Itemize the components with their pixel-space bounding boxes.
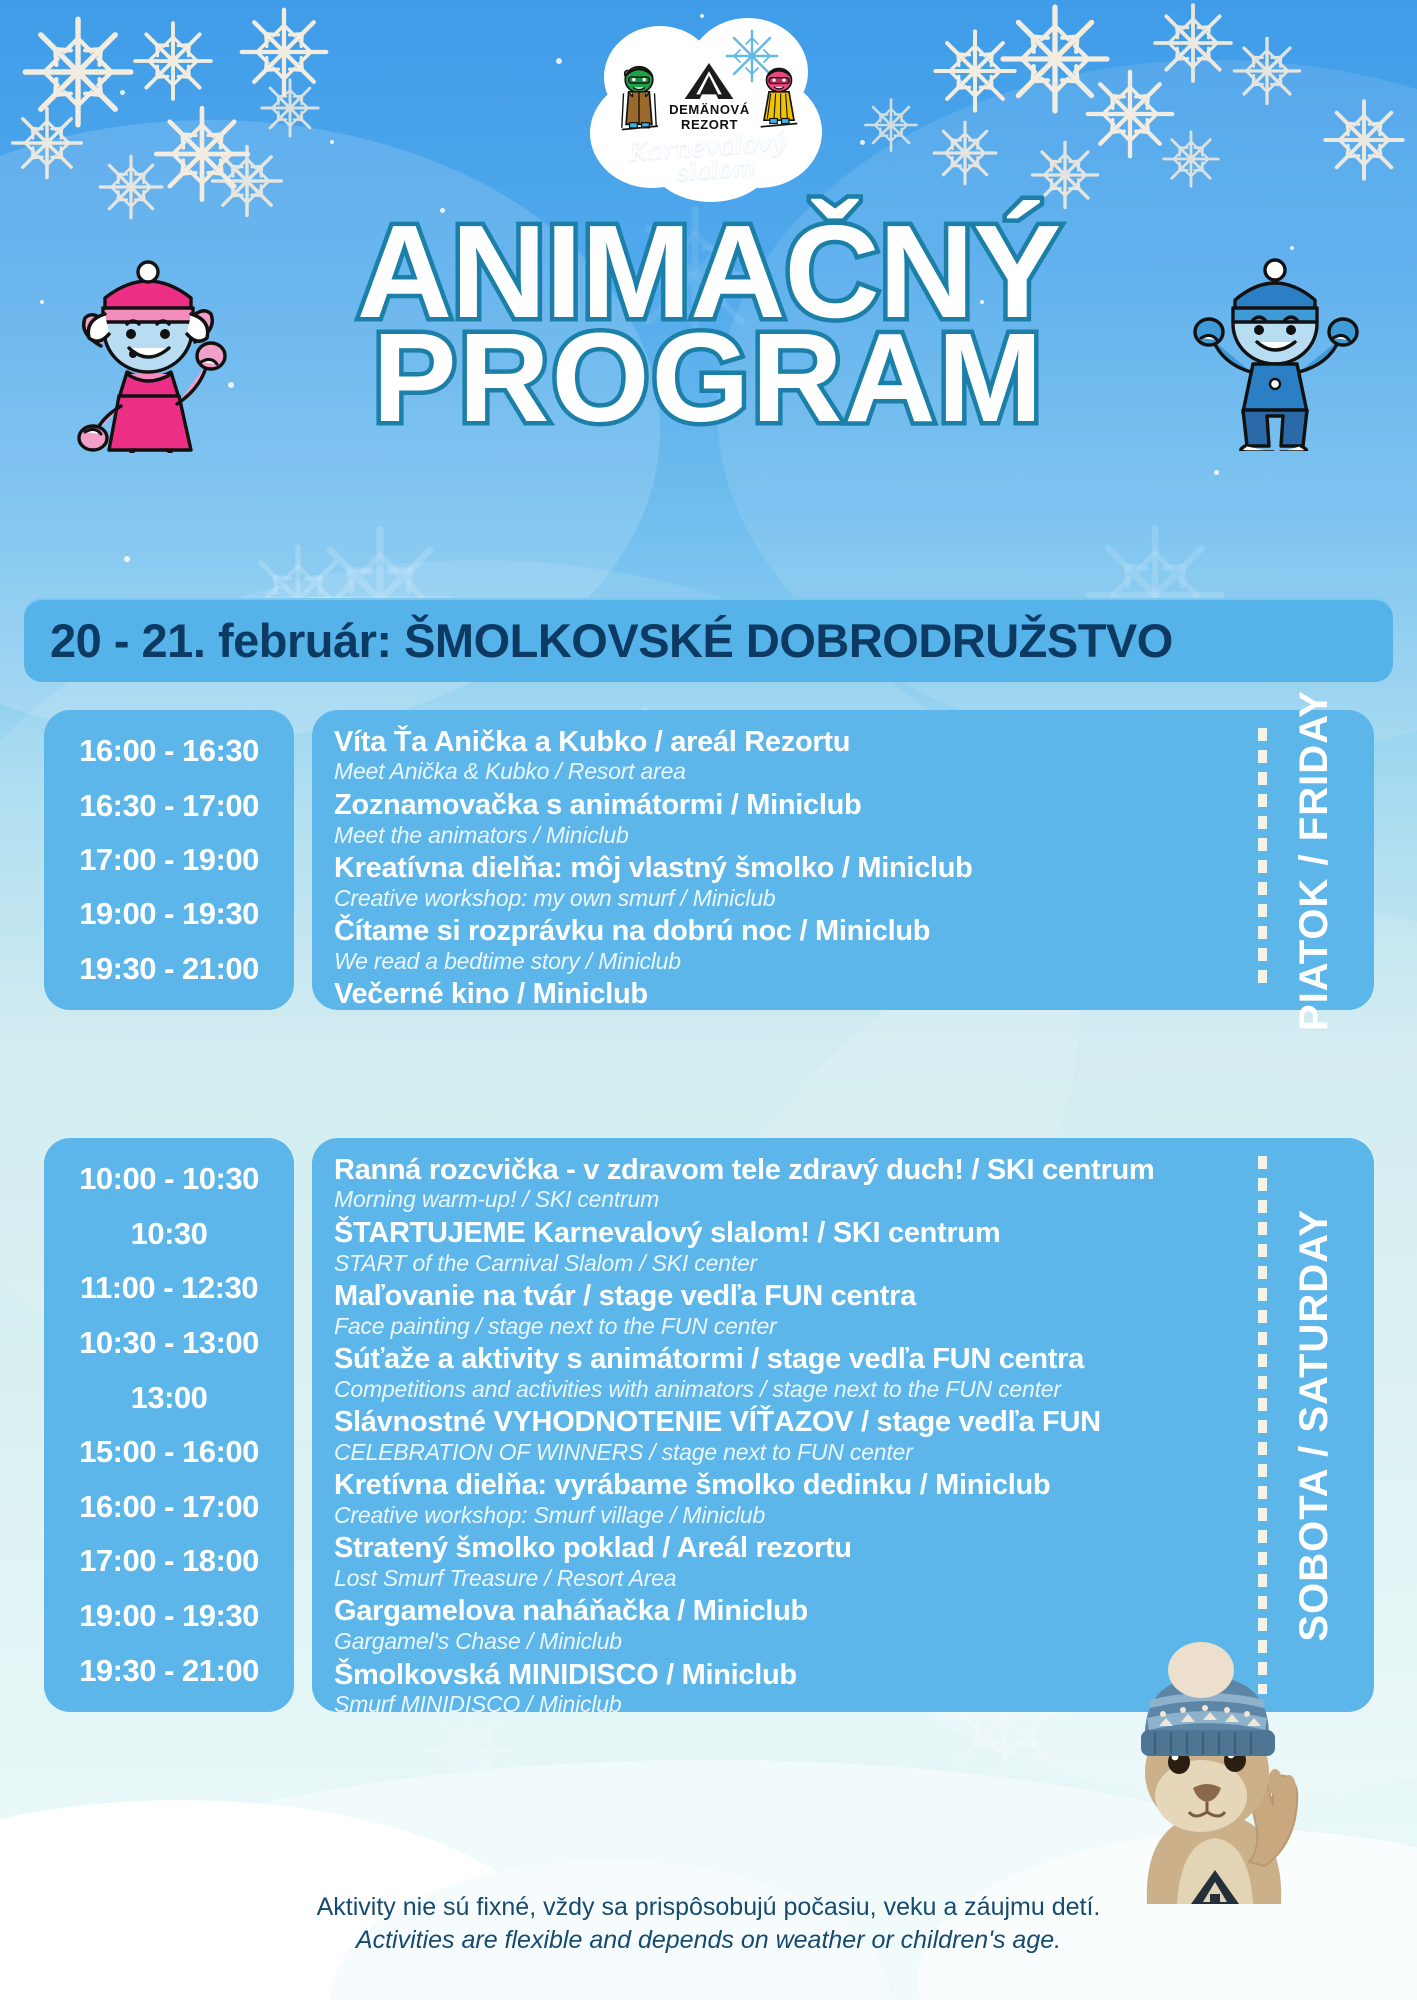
event-subtitle: Karnevalový slalom: [629, 129, 789, 186]
footer-line-sk: Aktivity nie sú fixné, vždy sa prispôsob…: [0, 1891, 1417, 1924]
time-label: 19:00 - 19:30: [79, 1598, 259, 1634]
event-row: Večerné kino / MiniclubEvening cinema / …: [334, 978, 1374, 1010]
time-label: 16:30 - 17:00: [79, 788, 259, 824]
event-row: ŠTARTUJEME Karnevalový slalom! / SKI cen…: [334, 1217, 1374, 1277]
time-label: 17:00 - 18:00: [79, 1543, 259, 1579]
event-row: Ranná rozcvička - v zdravom tele zdravý …: [334, 1154, 1374, 1214]
event-title-sk: Súťaže a aktivity s animátormi / stage v…: [334, 1343, 1374, 1375]
time-label: 10:30: [131, 1216, 208, 1252]
snowflake-icon: [96, 152, 166, 222]
snowflake-icon: [1320, 96, 1408, 184]
logo-badge: DEMÄNOVÁ REZORT: [584, 18, 834, 218]
snow-dot: [330, 140, 334, 144]
event-title-sk: ŠTARTUJEME Karnevalový slalom! / SKI cen…: [334, 1217, 1374, 1249]
event-row: Zoznamovačka s animátormi / MiniclubMeet…: [334, 789, 1374, 849]
snowflake-icon: [930, 118, 1000, 188]
snow-dot: [556, 58, 562, 64]
event-title-sk: Stratený šmolko poklad / Areál rezortu: [334, 1532, 1374, 1564]
time-label: 19:30 - 21:00: [79, 1653, 259, 1689]
event-title-en: Lost Smurf Treasure / Resort Area: [334, 1565, 1374, 1593]
event-row: Kretívna dielňa: vyrábame šmolko dedinku…: [334, 1469, 1374, 1529]
time-column-saturday: 10:00 - 10:3010:3011:00 - 12:3010:30 - 1…: [44, 1138, 294, 1712]
time-label: 19:00 - 19:30: [79, 896, 259, 932]
snowflake-icon: [862, 96, 920, 154]
event-title-en: Creative workshop: my own smurf / Minicl…: [334, 885, 1374, 913]
snowflake-icon: [208, 142, 286, 220]
event-title-sk: Víta Ťa Anička a Kubko / areál Rezortu: [334, 726, 1374, 758]
event-title-en: We read a bedtime story / Miniclub: [334, 948, 1374, 976]
event-row: Kreatívna dielňa: môj vlastný šmolko / M…: [334, 852, 1374, 912]
date-banner: 20 - 21. február: ŠMOLKOVSKÉ DOBRODRUŽST…: [24, 598, 1393, 682]
snow-dot: [120, 90, 125, 95]
time-label: 16:00 - 16:30: [79, 733, 259, 769]
event-title-en: Meet Anička & Kubko / Resort area: [334, 758, 1374, 786]
girl-character: [55, 238, 240, 453]
snowflake-icon: [1150, 0, 1236, 86]
event-title-sk: Kreatívna dielňa: môj vlastný šmolko / M…: [334, 852, 1374, 884]
event-title-sk: Zoznamovačka s animátormi / Miniclub: [334, 789, 1374, 821]
event-title-sk: Kretívna dielňa: vyrábame šmolko dedinku…: [334, 1469, 1374, 1501]
event-title-en: Creative workshop: Smurf village / Minic…: [334, 1502, 1374, 1530]
event-row: Súťaže a aktivity s animátormi / stage v…: [334, 1343, 1374, 1403]
snow-dot: [1214, 470, 1219, 475]
snow-dot: [860, 140, 865, 145]
event-row: Víta Ťa Anička a Kubko / areál RezortuMe…: [334, 726, 1374, 786]
event-title-en: CELEBRATION OF WINNERS / stage next to F…: [334, 1439, 1374, 1467]
snowflake-icon: [8, 104, 86, 182]
smurf-skier-girl-icon: [754, 59, 804, 133]
brand-name-line1: DEMÄNOVÁ: [669, 102, 750, 117]
time-label: 16:00 - 17:00: [79, 1489, 259, 1525]
event-title-sk: Slávnostné VYHODNOTENIE VÍŤAZOV / stage …: [334, 1406, 1374, 1438]
event-row: Slávnostné VYHODNOTENIE VÍŤAZOV / stage …: [334, 1406, 1374, 1466]
event-row: Čítame si rozprávku na dobrú noc / Minic…: [334, 915, 1374, 975]
event-title-en: Morning warm-up! / SKI centrum: [334, 1186, 1374, 1214]
event-title-en: Face painting / stage next to the FUN ce…: [334, 1313, 1374, 1341]
marmot-mascot: [1089, 1604, 1339, 1904]
day-label-text: PIATOK / FRIDAY: [1292, 690, 1337, 1031]
snowflake-icon: [1230, 34, 1304, 108]
time-label: 10:30 - 13:00: [79, 1325, 259, 1361]
time-label: 15:00 - 16:00: [79, 1434, 259, 1470]
dotted-divider: [1258, 728, 1267, 992]
date-banner-text: 20 - 21. február: ŠMOLKOVSKÉ DOBRODRUŽST…: [50, 613, 1173, 668]
event-column-friday: Víta Ťa Anička a Kubko / areál RezortuMe…: [312, 710, 1374, 1010]
footer-note: Aktivity nie sú fixné, vždy sa prispôsob…: [0, 1891, 1417, 1956]
event-title-en: Meet the animators / Miniclub: [334, 822, 1374, 850]
snow-dot: [124, 556, 130, 562]
smurf-skier-icon: [613, 59, 665, 133]
boy-character: [1187, 236, 1362, 451]
snowflake-icon: [130, 18, 216, 104]
event-title-sk: Čítame si rozprávku na dobrú noc / Minic…: [334, 915, 1374, 947]
event-row: Stratený šmolko poklad / Areál rezortuLo…: [334, 1532, 1374, 1592]
time-label: 13:00: [131, 1380, 208, 1416]
poster-root: DEMÄNOVÁ REZORT: [0, 0, 1417, 2000]
event-title-sk: Ranná rozcvička - v zdravom tele zdravý …: [334, 1154, 1374, 1186]
event-title-sk: Večerné kino / Miniclub: [334, 978, 1374, 1010]
schedule-day-friday: 16:00 - 16:3016:30 - 17:0017:00 - 19:001…: [44, 710, 1374, 1010]
footer-line-en: Activities are flexible and depends on w…: [0, 1924, 1417, 1957]
time-label: 17:00 - 19:00: [79, 842, 259, 878]
day-label-friday: PIATOK / FRIDAY: [1254, 710, 1374, 1010]
event-row: Maľovanie na tvár / stage vedľa FUN cent…: [334, 1280, 1374, 1340]
event-title-sk: Maľovanie na tvár / stage vedľa FUN cent…: [334, 1280, 1374, 1312]
time-label: 10:00 - 10:30: [79, 1161, 259, 1197]
event-title-en: Competitions and activities with animato…: [334, 1376, 1374, 1404]
snowflake-icon: [258, 76, 322, 140]
time-column-friday: 16:00 - 16:3016:30 - 17:0017:00 - 19:001…: [44, 710, 294, 1010]
time-label: 19:30 - 21:00: [79, 951, 259, 987]
event-title-en: START of the Carnival Slalom / SKI cente…: [334, 1250, 1374, 1278]
day-label-text: SOBOTA / SATURDAY: [1292, 1209, 1337, 1642]
mountain-icon: [680, 59, 738, 103]
snowflake-icon: [1160, 128, 1222, 190]
time-label: 11:00 - 12:30: [80, 1270, 258, 1306]
brand-logo: DEMÄNOVÁ REZORT: [669, 59, 750, 133]
